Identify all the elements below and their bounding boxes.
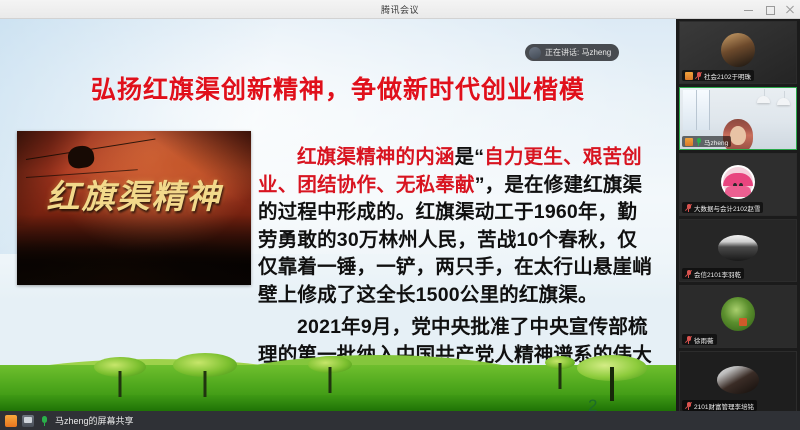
grass-base-dark [0, 395, 676, 411]
mic-muted-icon [695, 72, 702, 80]
speaking-label: 正在讲话: 马zheng [545, 47, 611, 58]
lamp-icon-2 [777, 98, 790, 105]
maximize-icon[interactable] [764, 4, 775, 15]
slide-grass-decoration [0, 306, 676, 411]
participant-label: 大数据与会计2102赵雪 [682, 202, 763, 213]
participant-tile[interactable]: 马zheng [679, 87, 797, 150]
participant-name: 会信2101李羽乾 [694, 269, 741, 279]
window-titlebar: 腾讯会议 [0, 0, 800, 19]
participant-tile[interactable]: 2101财富管理李培铭 [679, 351, 797, 414]
close-icon[interactable] [785, 4, 796, 15]
tencent-meeting-window: 腾讯会议 弘扬红旗渠创新精神，争做新时代创业楷模 红旗渠精神 [0, 0, 800, 430]
host-icon [685, 72, 693, 80]
speaking-indicator: 正在讲话: 马zheng [525, 44, 619, 61]
screen-share-icon[interactable] [22, 415, 34, 427]
mic-muted-icon [685, 336, 692, 344]
participant-label: 徐雨薇 [682, 334, 717, 345]
window-title: 腾讯会议 [381, 3, 419, 16]
participant-name: 大数据与会计2102赵雪 [694, 203, 760, 213]
avatar [721, 165, 755, 199]
participant-face [730, 126, 746, 145]
participant-name: 社会2102于明珠 [704, 71, 751, 81]
shared-screen-slide[interactable]: 弘扬红旗渠创新精神，争做新时代创业楷模 红旗渠精神 红旗渠精神的内涵是“自力更生… [0, 18, 676, 411]
lamp-icon-1 [757, 96, 770, 103]
share-status-label: 马zheng的屏幕共享 [55, 414, 134, 427]
para1-seg1: 红旗渠精神的内涵 [297, 146, 455, 168]
avatar [721, 297, 755, 331]
screen-share-bar: 马zheng的屏幕共享 [0, 411, 800, 430]
mic-muted-icon [685, 270, 692, 278]
participant-name: 2101财富管理李培铭 [694, 401, 754, 411]
hongqiqu-spirit-image: 红旗渠精神 [17, 131, 251, 285]
avatar [721, 33, 755, 67]
avatar [717, 366, 759, 394]
participant-tile[interactable]: 大数据与会计2102赵雪 [679, 153, 797, 216]
window-controls [743, 0, 796, 18]
slide-page-number: 2 [588, 396, 597, 411]
avatar [718, 235, 758, 261]
participants-rail[interactable]: 社会2102于明珠 马zheng [676, 18, 800, 411]
tencent-meeting-icon [5, 415, 17, 427]
participant-label: 2101财富管理李培铭 [682, 400, 757, 411]
participant-tile[interactable]: 会信2101李羽乾 [679, 219, 797, 282]
participant-name: 徐雨薇 [694, 335, 714, 345]
mic-on-icon[interactable] [39, 415, 50, 427]
para1-seg2: 是“ [455, 146, 485, 168]
mic-muted-icon [685, 204, 692, 212]
image-caption-calligraphy: 红旗渠精神 [17, 170, 251, 218]
meeting-stage: 弘扬红旗渠创新精神，争做新时代创业楷模 红旗渠精神 红旗渠精神的内涵是“自力更生… [0, 18, 800, 430]
slide-paragraph-1: 红旗渠精神的内涵是“自力更生、艰苦创业、团结协作、无私奉献”，是在修建红旗渠的过… [258, 144, 656, 309]
participant-tile[interactable]: 徐雨薇 [679, 285, 797, 348]
host-icon [685, 138, 693, 146]
window-decor [683, 90, 710, 130]
minimize-icon[interactable] [743, 4, 754, 15]
participant-label: 社会2102于明珠 [682, 70, 754, 81]
image-crowd [17, 214, 251, 285]
slide-title: 弘扬红旗渠创新精神，争做新时代创业楷模 [0, 70, 676, 106]
participant-label: 会信2101李羽乾 [682, 268, 744, 279]
participant-name: 马zheng [704, 137, 728, 147]
mic-on-icon [695, 138, 702, 146]
participant-label: 马zheng [682, 136, 731, 147]
mic-muted-icon [685, 402, 692, 410]
participant-tile[interactable]: 社会2102于明珠 [679, 21, 797, 84]
speaker-avatar [529, 47, 541, 59]
